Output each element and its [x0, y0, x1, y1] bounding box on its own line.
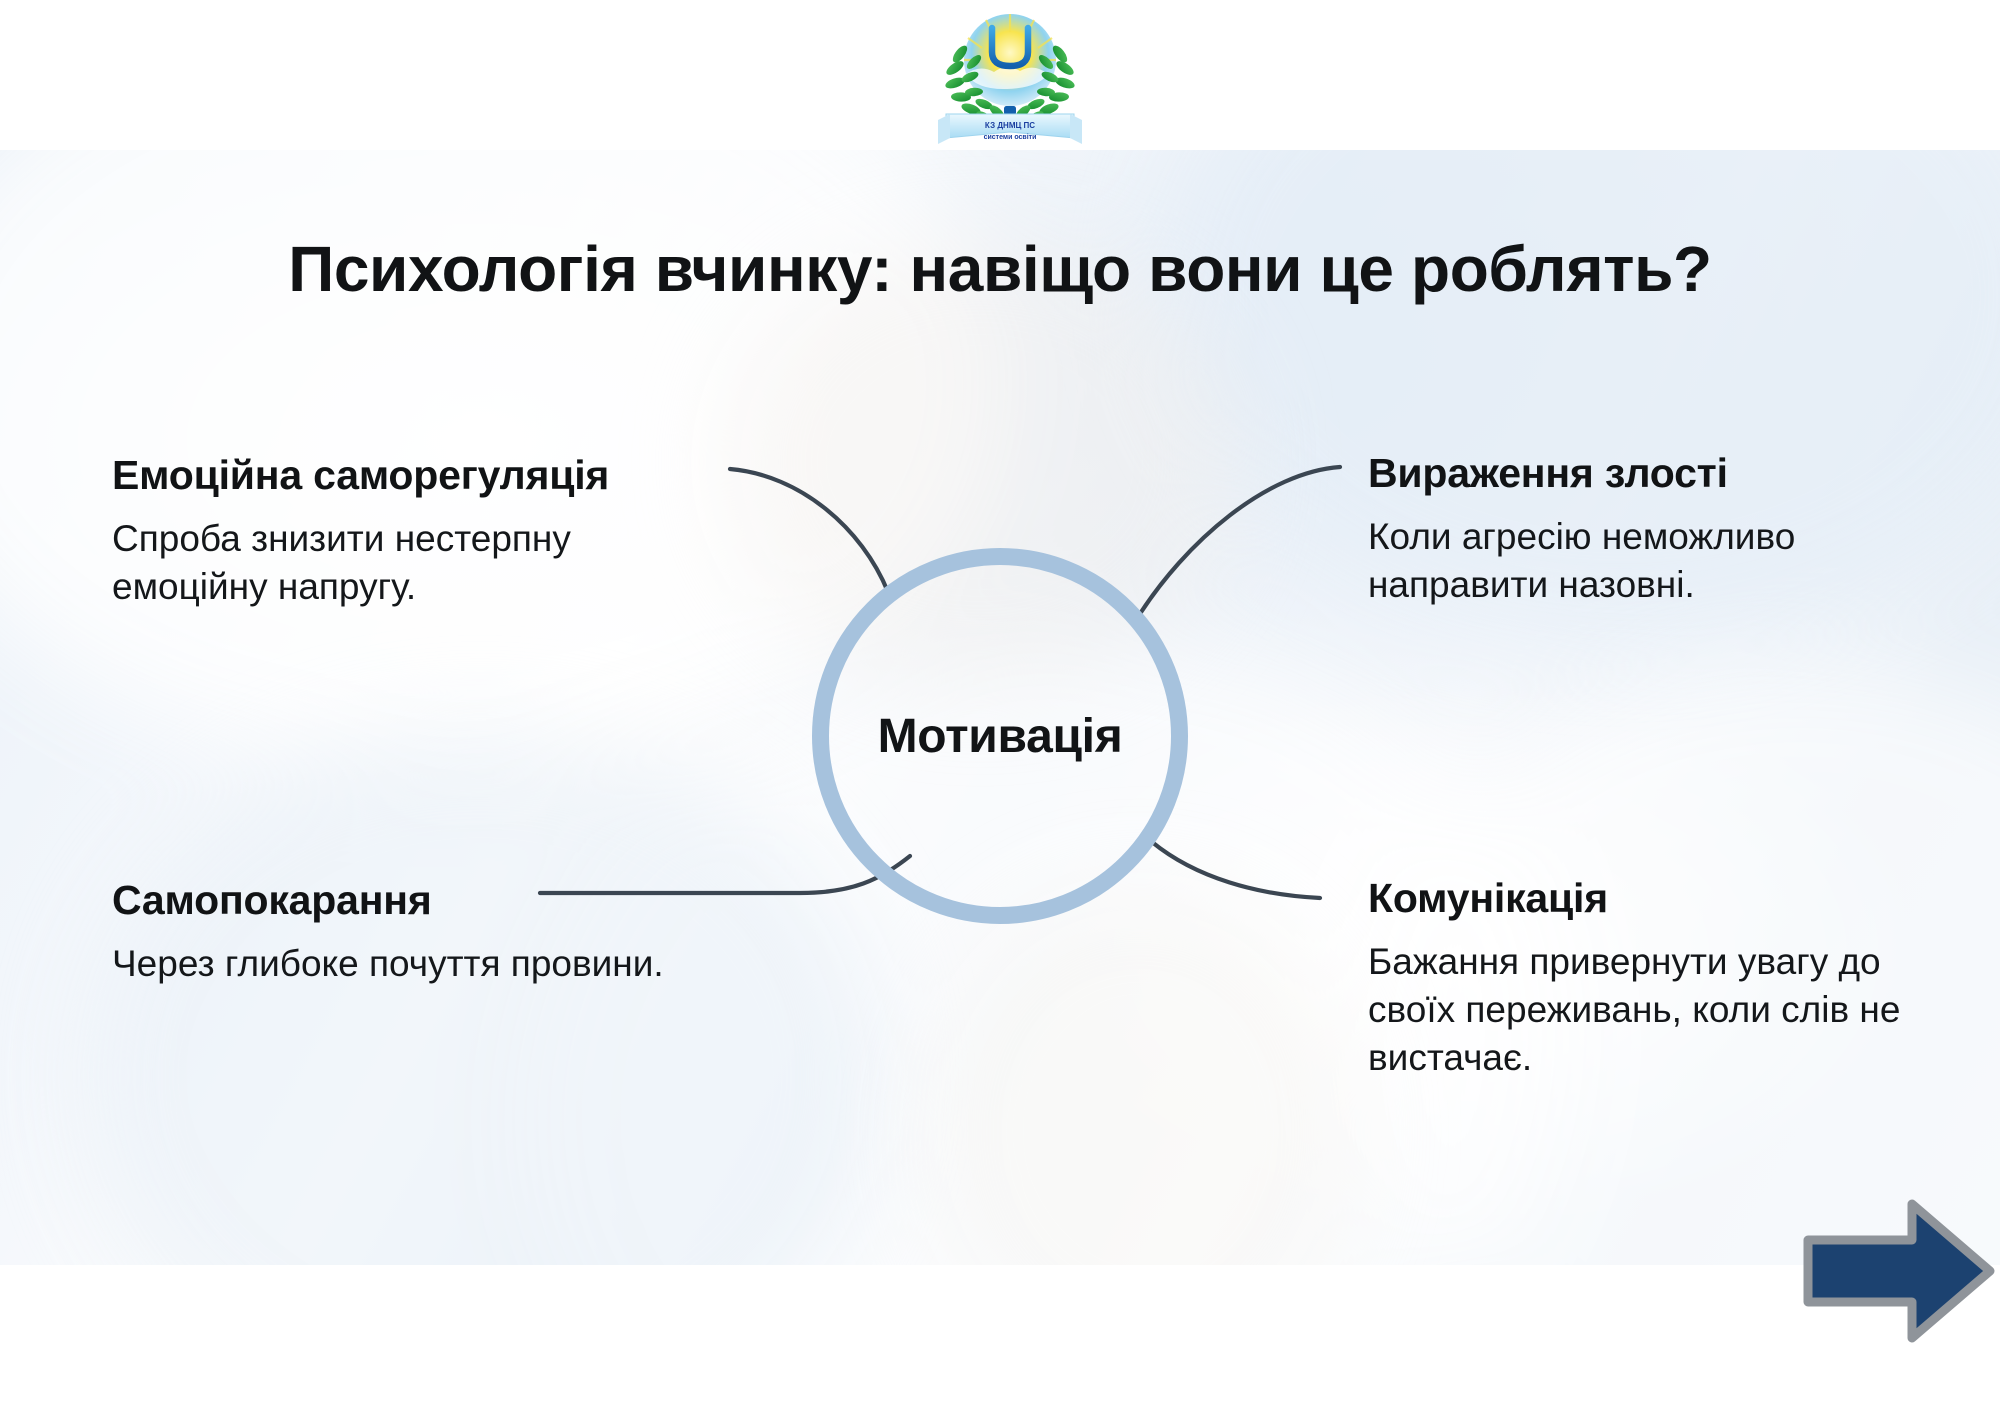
- logo-line1: КЗ ДНМЦ ПС: [985, 121, 1035, 130]
- node-body: Через глибоке почуття провини.: [112, 940, 672, 988]
- node-self-punishment: Самопокарання Через глибоке почуття пров…: [112, 877, 672, 988]
- node-title: Емоційна саморегуляція: [112, 452, 732, 499]
- node-body: Спроба знизити нестерпну емоційну напруг…: [112, 515, 732, 611]
- center-circle-motivation: Мотивація: [812, 548, 1188, 924]
- node-expression-of-anger: Вираження злості Коли агресію неможливо …: [1368, 450, 1968, 609]
- slide-viewer: КЗ ДНМЦ ПС системи освіти Психологія вчи…: [0, 0, 2000, 1414]
- organization-logo: КЗ ДНМЦ ПС системи освіти: [930, 2, 1090, 150]
- arrow-shape: [1808, 1204, 1990, 1338]
- connector-bottom-right: [1152, 842, 1320, 898]
- node-communication: Комунікація Бажання привернути увагу до …: [1368, 875, 1968, 1082]
- node-body: Бажання привернути увагу до своїх пережи…: [1368, 938, 1968, 1082]
- connector-top-right: [1136, 467, 1340, 620]
- hub-label: Мотивація: [878, 709, 1123, 764]
- slide-title: Психологія вчинку: навіщо вони це роблят…: [0, 232, 2000, 306]
- node-title: Самопокарання: [112, 877, 672, 924]
- right-arrow-icon[interactable]: [1800, 1196, 2000, 1346]
- connector-top-left: [730, 469, 888, 592]
- logo-line2: системи освіти: [984, 133, 1037, 141]
- presentation-slide: Психологія вчинку: навіщо вони це роблят…: [0, 150, 2000, 1265]
- node-emotional-self-regulation: Емоційна саморегуляція Спроба знизити не…: [112, 452, 732, 611]
- node-title: Комунікація: [1368, 875, 1968, 922]
- node-body: Коли агресію неможливо направити назовні…: [1368, 513, 1968, 609]
- node-title: Вираження злості: [1368, 450, 1968, 497]
